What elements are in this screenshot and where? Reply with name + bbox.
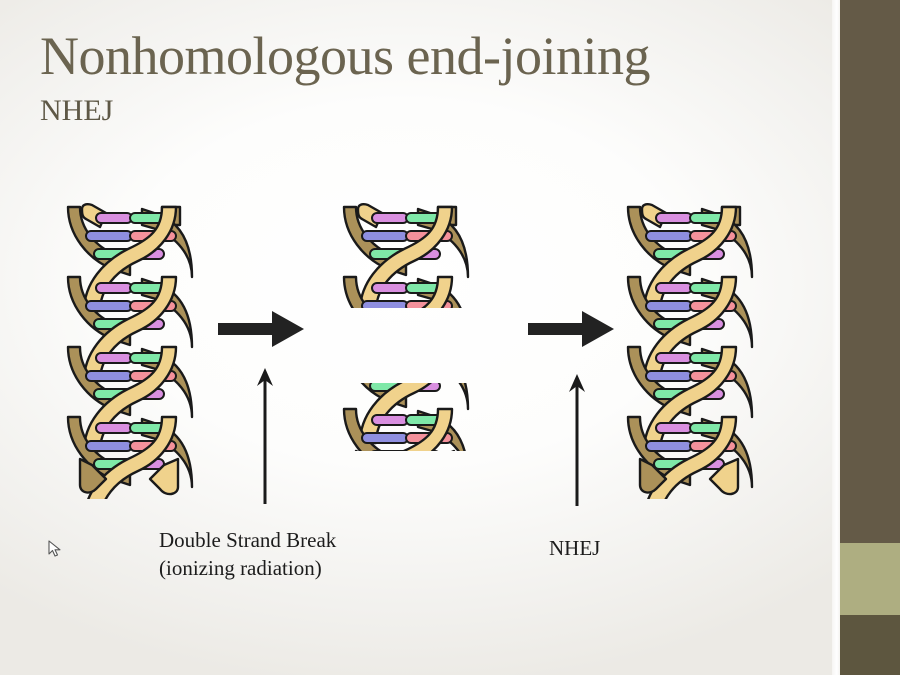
- caption-double-strand-break: Double Strand Break (ionizing radiation): [159, 527, 336, 582]
- caption-dsb-line-2: (ionizing radiation): [159, 555, 336, 583]
- dna-fragment-lower: [342, 383, 470, 504]
- vertical-arrow-2-icon: [564, 372, 590, 512]
- sidebar-segment-middle: [840, 543, 900, 615]
- dna-fragment-upper: [342, 203, 470, 318]
- dna-helix-repaired: [626, 203, 754, 504]
- sidebar-gutter: [832, 0, 840, 675]
- vertical-arrow-1-icon: [252, 366, 278, 506]
- mouse-cursor-icon: [48, 540, 62, 558]
- page-subtitle: NHEJ: [40, 94, 113, 128]
- page-title: Nonhomologous end-joining: [40, 28, 650, 85]
- sidebar-segment-bottom: [840, 615, 900, 675]
- presentation-slide: Nonhomologous end-joining NHEJ: [0, 0, 900, 675]
- caption-dsb-line-1: Double Strand Break: [159, 527, 336, 555]
- caption-nhej: NHEJ: [549, 535, 600, 563]
- dna-helix-intact: [66, 203, 194, 504]
- horizontal-arrow-1-icon: [216, 306, 306, 352]
- sidebar-segment-top: [840, 0, 900, 543]
- horizontal-arrow-2-icon: [526, 306, 616, 352]
